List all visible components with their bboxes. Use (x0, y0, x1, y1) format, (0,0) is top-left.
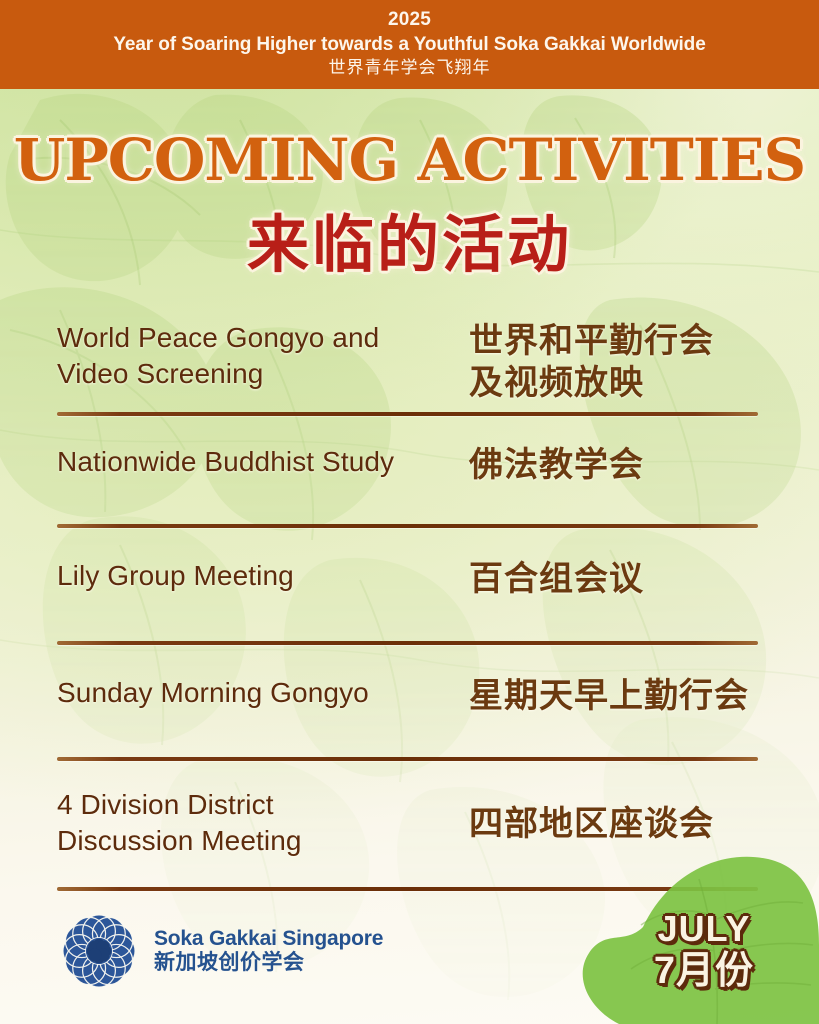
activity-title-en: Lily Group Meeting (57, 558, 469, 594)
activity-title-en-line1: Lily Group Meeting (57, 558, 469, 594)
activity-title-zh-line1: 星期天早上勤行会 (469, 675, 758, 717)
activity-row: Lily Group Meeting 百合组会议 (57, 528, 758, 600)
lotus-mandala-icon (58, 910, 140, 992)
poster-canvas: 2025 Year of Soaring Higher towards a Yo… (0, 0, 819, 1024)
month-badge-zh: 7月份 (609, 952, 799, 992)
top-banner: 2025 Year of Soaring Higher towards a Yo… (0, 0, 819, 89)
activity-title-zh: 世界和平勤行会 及视频放映 (469, 320, 758, 404)
activity-title-en-line2: Discussion Meeting (57, 823, 469, 859)
activity-title-en-line1: Sunday Morning Gongyo (57, 675, 469, 711)
activity-row: Sunday Morning Gongyo 星期天早上勤行会 (57, 645, 758, 717)
activity-title-zh: 佛法教学会 (469, 444, 758, 486)
org-name-zh: 新加坡创价学会 (154, 951, 383, 975)
activity-title-en: World Peace Gongyo and Video Screening (57, 320, 469, 392)
activity-title-en-line1: Nationwide Buddhist Study (57, 444, 469, 480)
activity-row: World Peace Gongyo and Video Screening 世… (57, 312, 758, 404)
activities-list: World Peace Gongyo and Video Screening 世… (57, 312, 758, 891)
activity-title-zh-line1: 佛法教学会 (469, 444, 758, 486)
activity-title-zh-line2: 及视频放映 (469, 362, 758, 404)
activity-row: 4 Division District Discussion Meeting 四… (57, 761, 758, 859)
banner-year: 2025 (0, 7, 819, 32)
activity-title-zh-line1: 百合组会议 (469, 558, 758, 600)
activity-row: Nationwide Buddhist Study 佛法教学会 (57, 416, 758, 486)
banner-slogan-zh: 世界青年学会飞翔年 (0, 57, 819, 79)
footer-logo: Soka Gakkai Singapore 新加坡创价学会 (58, 910, 383, 992)
org-name-en: Soka Gakkai Singapore (154, 927, 383, 951)
month-badge: JULY 7月份 (609, 910, 799, 992)
activity-title-en: Nationwide Buddhist Study (57, 444, 469, 480)
activity-title-zh: 四部地区座谈会 (469, 787, 758, 845)
activity-title-zh: 百合组会议 (469, 558, 758, 600)
page-title-en: UPCOMING ACTIVITIES (0, 126, 819, 194)
banner-slogan-en: Year of Soaring Higher towards a Youthfu… (0, 32, 819, 57)
activity-title-en: 4 Division District Discussion Meeting (57, 787, 469, 859)
activity-title-zh: 星期天早上勤行会 (469, 675, 758, 717)
activity-title-en: Sunday Morning Gongyo (57, 675, 469, 711)
page-title-zh: 来临的活动 (0, 194, 819, 284)
activity-title-en-line2: Video Screening (57, 356, 469, 392)
activity-title-en-line1: World Peace Gongyo and (57, 320, 469, 356)
activity-title-zh-line1: 四部地区座谈会 (469, 803, 758, 845)
month-badge-en: JULY (609, 910, 799, 948)
activity-title-zh-line1: 世界和平勤行会 (469, 320, 758, 362)
footer-logo-text: Soka Gakkai Singapore 新加坡创价学会 (154, 927, 383, 975)
activity-title-en-line1: 4 Division District (57, 787, 469, 823)
